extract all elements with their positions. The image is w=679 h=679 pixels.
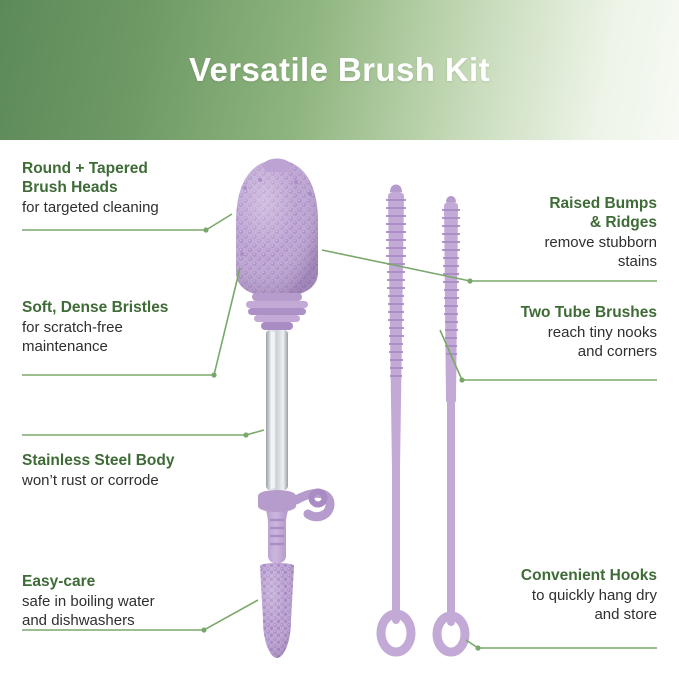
callout-convenient-hooks: Convenient Hooks to quickly hang dry and… <box>442 566 657 624</box>
callout-title: Stainless Steel Body <box>22 451 237 470</box>
callout-two-tube-brushes: Two Tube Brushes reach tiny nooks and co… <box>442 303 657 361</box>
round-brush-head <box>236 159 318 298</box>
callout-title: Convenient Hooks <box>442 566 657 585</box>
callout-raised-bumps-ridges: Raised Bumps & Ridges remove stubborn st… <box>447 194 657 271</box>
tapered-brush-head <box>260 563 294 658</box>
callout-title: Soft, Dense Bristles <box>22 298 227 317</box>
callout-subtitle: remove stubborn stains <box>447 233 657 271</box>
callout-title: Easy-care <box>22 572 232 591</box>
brush-handle <box>258 490 330 564</box>
callout-title: Raised Bumps & Ridges <box>447 194 657 232</box>
callout-subtitle: to quickly hang dry and store <box>442 586 657 624</box>
long-tube-brush <box>381 185 411 653</box>
callout-subtitle: safe in boiling water and dishwashers <box>22 592 232 630</box>
product-infographic: Versatile Brush Kit <box>0 0 679 679</box>
callout-easy-care: Easy-care safe in boiling water and dish… <box>22 572 232 630</box>
callout-subtitle: won’t rust or corrode <box>22 471 237 490</box>
large-bottle-brush <box>236 159 330 659</box>
callout-subtitle: for scratch-free maintenance <box>22 318 227 356</box>
callout-round-tapered-brush-heads: Round + Tapered Brush Heads for targeted… <box>22 159 222 217</box>
callout-title: Round + Tapered Brush Heads <box>22 159 222 197</box>
brush-collar-ridges <box>246 293 308 330</box>
callout-stainless-steel-body: Stainless Steel Body won’t rust or corro… <box>22 451 237 490</box>
callout-subtitle: for targeted cleaning <box>22 198 222 217</box>
callout-soft-dense-bristles: Soft, Dense Bristles for scratch-free ma… <box>22 298 227 356</box>
callout-subtitle: reach tiny nooks and corners <box>442 323 657 361</box>
stainless-steel-shaft <box>266 330 288 490</box>
callout-title: Two Tube Brushes <box>442 303 657 322</box>
